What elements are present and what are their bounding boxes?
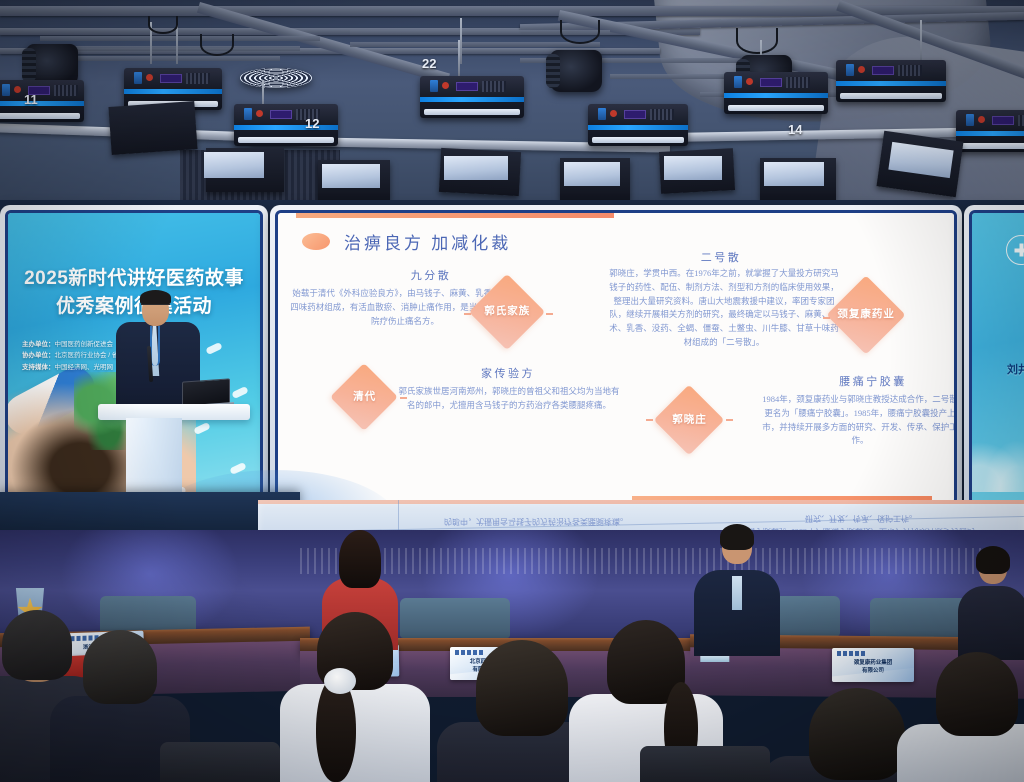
person-hair [936,652,1018,736]
organizer-label-coorg: 协办单位： [22,352,55,359]
power-cable [148,16,178,34]
chair-back [400,598,510,638]
center-screen-inner: 治痹良方 加减化裁 九分散 始载于清代《外科应验良方》，由马钱子、麻黄、乳香、没… [275,210,957,505]
fixture-vent [54,85,78,96]
slide-title: 治痹良方 加减化裁 [344,229,511,254]
fixture-knob [734,76,742,88]
fixture-display [760,78,782,87]
fixture-hanger [920,20,922,64]
fixture-hanger [460,18,462,64]
conference-hall-scene: 11 12 22 14 2025新时代讲好医药故事 优秀案例征集活动 主办单位：… [0,0,1024,782]
ceiling-slat [40,46,300,51]
par-can-light [550,50,602,92]
badge-dash [726,419,733,421]
open-face-light [322,164,380,188]
column-heading-2: 家传验方 [443,365,573,381]
fixture-vent [186,73,210,84]
column-heading-1: 九分散 [356,267,506,283]
column-body-3: 郭晓庄，学贯中西。在1976年之前，就掌握了大量投方研究马钱子的药性、配伍、制剂… [608,267,840,350]
fixture-number-label: 12 [305,116,319,131]
fixture-lens [960,143,1024,149]
person-torso [958,586,1024,660]
audience-foreground-3 [300,600,410,782]
fixture-knob [846,64,854,76]
stage-light-fixture [420,76,524,118]
stage-light-fixture [724,72,828,114]
fixture-hanger [458,40,460,80]
person-hair [720,524,754,550]
fixture-knob [430,80,438,92]
person-hair [976,546,1010,574]
center-display-panel[interactable]: 治痹良方 加减化裁 九分散 始载于清代《外科应验良方》，由马钱子、麻黄、乳香、没… [270,205,962,510]
column-body-2: 郭氏家族世居河南郑州，郭晓庄的曾祖父和祖父均为当地有名的郎中，尤擅用含马钱子的方… [396,385,622,413]
fixture-lens [0,113,80,119]
table-name-card: 颈复康药业集团 有限公司 [832,648,914,682]
badge-label-1: 清代 [353,390,376,403]
fixture-number-label: 14 [788,122,802,137]
badge-diamond-3: 郭晓庄 [654,385,725,456]
person-shirt [732,576,742,610]
audience-person-suit [694,520,780,650]
column-heading-4: 腰痛宁胶囊 [808,373,938,389]
audience-foreground-7 [912,650,1024,782]
fixture-indicator [858,66,865,73]
fixture-number-label: 22 [422,56,436,71]
power-cable [560,20,600,44]
speaker-hair [140,290,171,305]
open-face-light [564,162,620,186]
stage-light-fixture [588,104,688,146]
speaker-name-label: 刘井利 [1007,361,1024,377]
organizer-label-host: 主办单位： [22,341,55,348]
badge-dash [464,313,471,315]
fixture-indicator [746,78,753,85]
badge-diamond-1: 清代 [330,363,398,431]
organizer-label-media: 支持媒体： [22,364,55,371]
barndoor-shutter [108,101,197,155]
open-face-light [764,162,824,186]
slide-top-accent-bar [296,213,614,218]
ceiling-lighting-truss: 11 12 22 14 [0,0,1024,206]
badge-label-3: 郭晓庄 [672,413,707,426]
power-cable [200,34,234,56]
person-hair [476,640,568,736]
fixture-indicator [978,116,985,123]
fixture-indicator [14,86,21,93]
stage-light-fixture [956,110,1024,152]
wall-sheen-stripe [300,548,1000,574]
right-display-panel[interactable]: 刘井利 [964,205,1024,510]
fixture-indicator [610,110,617,117]
column-heading-3: 二号散 [656,249,786,265]
badge-dash [646,419,653,421]
badge-label-2: 郭氏家族 [484,305,530,318]
fixture-knob [244,108,252,120]
center-slide: 治痹良方 加减化裁 九分散 始载于清代《外科应验良方》，由马钱子、麻黄、乳香、没… [278,213,954,502]
fixture-indicator [442,82,449,89]
wave-graphic [972,422,1024,492]
name-card-text: 颈复康药业集团 有限公司 [832,659,914,676]
fixture-vent [786,77,810,88]
fixture-knob [134,72,142,84]
fixture-lens [592,137,684,143]
column-body-4: 1984年，颈复康药业与郭晓庄教授达成合作，二号散更名为「腰痛宁胶囊」。1985… [760,393,957,448]
fixture-vent [1018,115,1024,126]
fixture-lens [238,137,334,143]
foreground-chair-back [640,746,770,782]
stage-light-fixture [234,104,338,146]
fixture-display [992,116,1014,125]
speaker-glasses [141,304,170,310]
fixture-knob [598,108,606,120]
fixture-indicator [146,74,153,81]
badge-dash [823,317,830,319]
fixture-display [270,110,292,119]
open-face-light [444,156,508,180]
badge-label-4: 颈复康药业 [837,308,895,321]
fixture-lens [728,105,824,111]
disc-light-fixture [240,68,312,88]
fixture-display [872,66,894,75]
fixture-lens [840,93,942,99]
title-bullet-icon [302,233,330,250]
open-face-light [664,156,722,180]
fixture-indicator [256,110,263,117]
fixture-vent [650,109,674,120]
reflection-accent-bar [258,500,1024,504]
slide-title-row: 治痹良方 加减化裁 [302,229,511,254]
stage-light-fixture [0,80,84,122]
ceiling-slat [350,42,600,47]
fixture-number-label: 11 [24,92,38,107]
power-cable [736,28,778,54]
person-hair [339,530,381,588]
fixture-display [456,82,478,91]
badge-diamond-2: 郭氏家族 [469,274,545,350]
fixture-display [624,110,646,119]
foreground-chair-back [160,742,280,782]
name-card-logo [837,651,867,656]
right-screen-inner: 刘井利 [969,210,1024,505]
hair-scrunchie [324,668,356,694]
fixture-knob [2,84,10,96]
fixture-vent [482,81,506,92]
person-hair [83,630,157,704]
open-face-light [204,152,264,178]
fixture-knob [966,114,974,126]
person-hair [809,688,905,780]
stage-light-fixture [836,60,946,102]
ceiling-slat [40,36,320,41]
fixture-display [160,74,182,83]
badge-dash [546,313,553,315]
fixture-vent [898,65,922,76]
fixture-lens [424,109,520,115]
audience-person-right-edge [958,546,1024,656]
